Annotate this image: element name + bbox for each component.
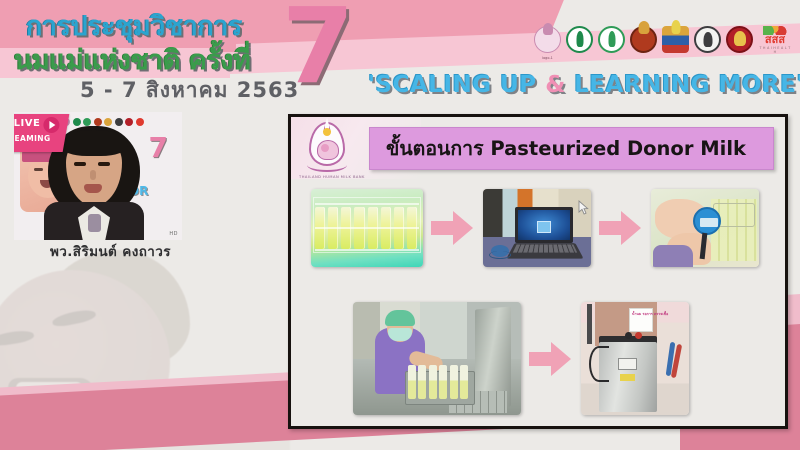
tagline-pre: 'SCALING UP	[368, 72, 545, 98]
sss-logo-text: สสส	[758, 34, 792, 45]
sss-logo-subtext: T H A I H E A L T H	[758, 46, 792, 54]
baby-icon	[317, 140, 339, 160]
live-streaming-badge: LIVE STREAMING	[14, 114, 69, 152]
ministry-health-logo	[566, 26, 593, 53]
tagline-post: LEARNING MORE'	[566, 72, 800, 98]
sponsor-logo-row: logo-1 สสส T H A I H E A	[534, 26, 792, 53]
milk-droplet-icon	[323, 128, 331, 136]
conference-tagline: 'SCALING UP & LEARNING MORE'	[368, 72, 800, 98]
play-icon	[43, 117, 59, 133]
step-pasteurizer-machine: น้ำนม รอการ ตรวจเชื้อ	[581, 302, 689, 415]
live-video-feed[interactable]: การประชุมวิชาการ นมแม่แห่งชาติ ครั้งที่ …	[14, 112, 182, 240]
dept-health-logo	[598, 26, 625, 53]
process-arrow-1	[431, 211, 475, 245]
process-arrow-2	[599, 211, 643, 245]
thaihealth-sss-logo: สสส T H A I H E A L T H	[758, 26, 792, 53]
thai-pavilion-logo	[662, 26, 689, 53]
royal-emblem-logo	[630, 26, 657, 53]
machine-sign-text: น้ำนม รอการ ตรวจเชื้อ	[632, 312, 668, 317]
step-milk-bottle-rack	[311, 189, 423, 267]
process-arrow-3	[529, 342, 573, 376]
speaker-name-caption: พว.สิริมนต์ คงถาวร	[50, 240, 171, 262]
royal-patronage-logo: logo-1	[534, 26, 561, 53]
video-poster-number: 7	[149, 134, 168, 162]
logo-ring-text: THAILAND HUMAN MILK BANK	[299, 175, 355, 179]
video-quality-label: HD	[169, 231, 178, 237]
slide-title-banner: ขั้นตอนการ Pasteurized Donor Milk	[369, 127, 774, 170]
edition-number: 7	[282, 0, 354, 98]
process-row-1	[311, 189, 759, 267]
conference-date: 5 - 7 สิงหาคม 2563	[80, 74, 299, 107]
streaming-badge-label: STREAMING	[14, 134, 51, 143]
step-laptop-logging	[483, 189, 591, 267]
slide-title-text: ขั้นตอนการ Pasteurized Donor Milk	[386, 133, 746, 164]
machine-control-panel	[618, 358, 637, 370]
digital-timer-icon	[693, 207, 721, 235]
live-badge-label: LIVE	[14, 118, 40, 129]
video-poster-logos	[62, 118, 144, 126]
presentation-slide: THAILAND HUMAN MILK BANK ขั้นตอนการ Past…	[288, 114, 788, 429]
university-seal-logo	[694, 26, 721, 53]
process-row-2: น้ำนม รอการ ตรวจเชื้อ	[353, 302, 689, 415]
red-crest-logo	[726, 26, 753, 53]
tagline-ampersand: &	[545, 72, 566, 98]
machine-sign: น้ำนม รอการ ตรวจเชื้อ	[629, 308, 653, 332]
step-timer-temperature-check	[651, 189, 759, 267]
presentation-stage: การประชุมวิชาการ นมแม่แห่งชาติ ครั้งที่ …	[0, 0, 800, 450]
human-milk-bank-drop-logo: THAILAND HUMAN MILK BANK	[299, 120, 355, 180]
step-nurse-loading-bottles	[353, 302, 521, 415]
